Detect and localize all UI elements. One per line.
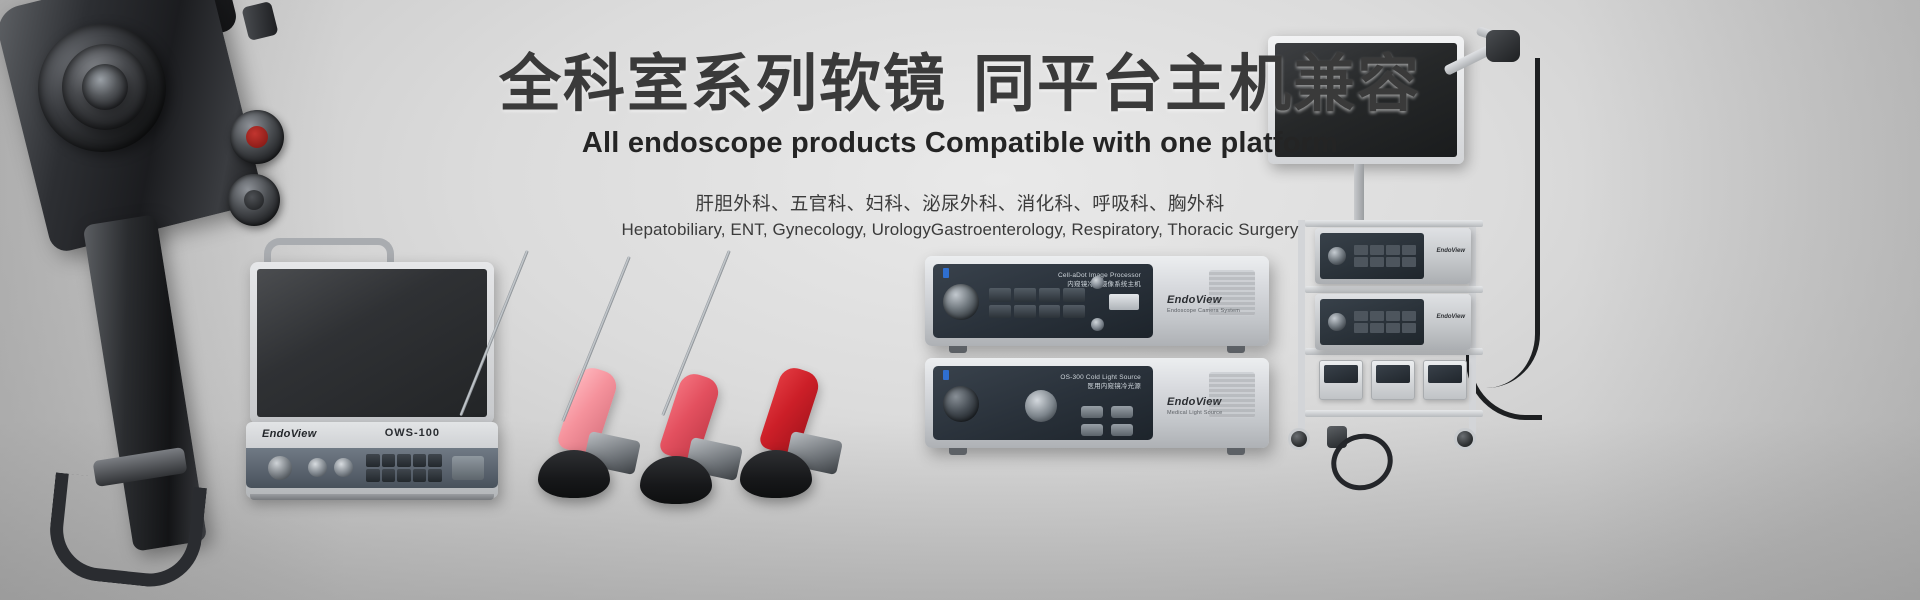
endoscope-insertion-tube xyxy=(45,472,207,591)
light-source-brightness-dial xyxy=(1025,390,1057,422)
cart-unit-2-panel xyxy=(1320,299,1424,345)
workstation-side-panel xyxy=(452,456,484,480)
subheadline-english: All endoscope products Compatible with o… xyxy=(0,127,1920,160)
control-units-stack: Cell-aDot Image Processor 内窥镜冷光摄像系统主机 En… xyxy=(925,256,1269,456)
processor-brand-label: EndoView xyxy=(1167,294,1222,306)
light-source-button-3 xyxy=(1081,424,1103,436)
processor-indicator-1 xyxy=(1091,276,1104,289)
cart-unit-2-brand: EndoView xyxy=(1437,314,1465,320)
light-source-power-indicator xyxy=(943,370,949,380)
processor-feet xyxy=(943,346,1251,353)
light-source-panel-title-cn: 医用内窥镜冷光源 xyxy=(1087,383,1141,390)
cart-accessory-box-3-panel xyxy=(1428,365,1462,383)
cart-accessory-box-2-panel xyxy=(1376,365,1410,383)
workstation-brand-label: EndoView xyxy=(262,428,317,440)
departments-english: Hepatobiliary, ENT, Gynecology, UrologyG… xyxy=(0,220,1920,240)
light-source-panel-title-en: OS-300 Cold Light Source xyxy=(1060,374,1141,381)
workstation-port-2 xyxy=(334,458,353,477)
cart-accessory-box-1 xyxy=(1319,360,1363,400)
product-banner: 全科室系列软镜同平台主机兼容 All endoscope products Co… xyxy=(0,0,1920,600)
image-processor-unit: Cell-aDot Image Processor 内窥镜冷光摄像系统主机 En… xyxy=(925,256,1269,346)
processor-main-knob xyxy=(943,284,979,320)
light-source-sublabel: Medical Light Source xyxy=(1167,410,1222,416)
light-source-panel-title: OS-300 Cold Light Source 医用内窥镜冷光源 xyxy=(1060,373,1141,392)
headline-sub: 同平台主机兼容 xyxy=(973,50,1421,119)
processor-sublabel: Endoscope Camera System xyxy=(1167,308,1240,314)
light-source-brand-label: EndoView xyxy=(1167,396,1222,408)
processor-usb-port xyxy=(1109,294,1139,310)
cart-unit-2-keypad xyxy=(1354,311,1416,333)
banner-text-block: 全科室系列软镜同平台主机兼容 All endoscope products Co… xyxy=(0,48,1920,240)
cart-accessory-box-1-panel xyxy=(1324,365,1358,383)
cart-accessory-box-3 xyxy=(1423,360,1467,400)
light-source-button-1 xyxy=(1081,406,1103,418)
cart-shelf-4 xyxy=(1305,410,1483,417)
processor-button-grid xyxy=(989,288,1085,318)
cart-caster-left xyxy=(1288,428,1310,450)
workstation-port-1 xyxy=(308,458,327,477)
light-source-main-knob xyxy=(943,386,979,422)
light-source-feet xyxy=(943,448,1251,455)
cart-unit-1-keypad xyxy=(1354,245,1416,267)
light-source-button-2 xyxy=(1111,406,1133,418)
workstation-model-label: OWS-100 xyxy=(385,427,440,439)
workstation-display-frame xyxy=(250,262,494,424)
processor-front-panel: Cell-aDot Image Processor 内窥镜冷光摄像系统主机 xyxy=(933,264,1153,338)
departments-chinese: 肝胆外科、五官科、妇科、泌尿外科、消化科、呼吸科、胸外科 xyxy=(0,190,1920,216)
workstation-power-knob xyxy=(268,456,292,480)
cart-unit-1-knob xyxy=(1328,247,1346,265)
cart-unit-1-brand: EndoView xyxy=(1437,248,1465,254)
endoscope-side-port xyxy=(241,1,278,41)
workstation-keypad xyxy=(366,454,442,482)
cart-accessory-box-2 xyxy=(1371,360,1415,400)
monitor-workstation-image: EndoView OWS-100 xyxy=(236,236,506,496)
workstation-foot xyxy=(250,494,494,500)
cart-shelf-2 xyxy=(1305,286,1483,293)
rigid-scope-red-image xyxy=(712,250,862,500)
page-title: 全科室系列软镜同平台主机兼容 xyxy=(0,48,1920,121)
workstation-screen xyxy=(257,269,487,417)
light-source-unit: OS-300 Cold Light Source 医用内窥镜冷光源 EndoVi… xyxy=(925,358,1269,448)
processor-indicator-2 xyxy=(1091,318,1104,331)
headline-main: 全科室系列软镜 xyxy=(499,50,947,119)
light-source-front-panel: OS-300 Cold Light Source 医用内窥镜冷光源 xyxy=(933,366,1153,440)
processor-power-indicator xyxy=(943,268,949,278)
light-source-button-4 xyxy=(1111,424,1133,436)
cart-caster-right xyxy=(1454,428,1476,450)
cart-scope-cable-lower xyxy=(1466,324,1542,420)
cart-unit-2: EndoView xyxy=(1315,294,1471,350)
cart-unit-2-knob xyxy=(1328,313,1346,331)
cart-frame: EndoView EndoView xyxy=(1298,220,1476,434)
workstation-base: EndoView OWS-100 xyxy=(246,422,498,498)
